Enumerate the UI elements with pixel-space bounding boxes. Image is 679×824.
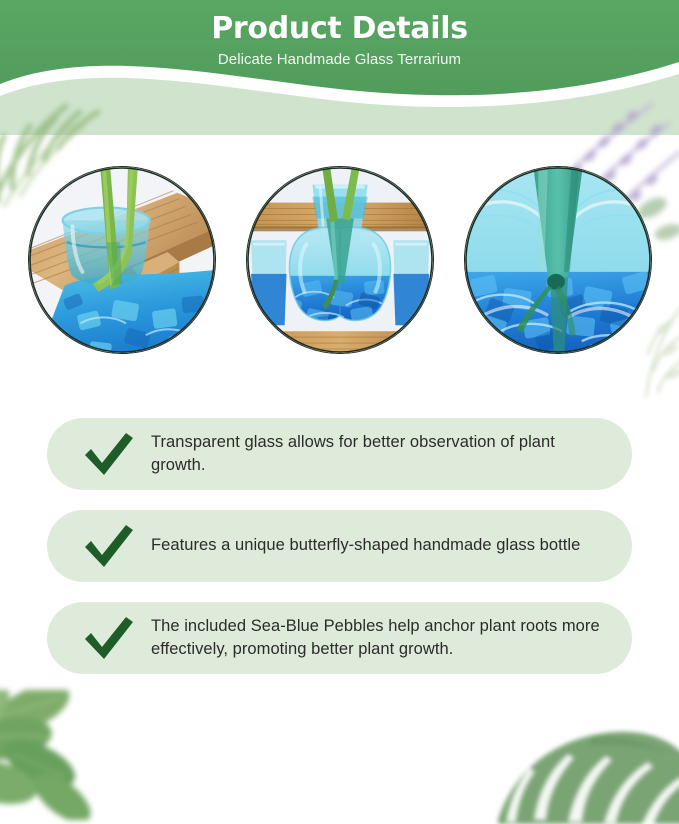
gallery-image-butterfly-glass-bottle-with-pebbles[interactable] [246, 166, 434, 354]
check-icon [81, 612, 137, 664]
gallery-image-glass-cup-on-wooden-board[interactable] [28, 166, 216, 354]
product-image-gallery [0, 166, 679, 358]
feature-item-text: Features a unique butterfly-shaped handm… [151, 534, 580, 557]
feature-list: Transparent glass allows for better obse… [0, 418, 679, 694]
feature-item-sea-blue-pebbles: The included Sea-Blue Pebbles help ancho… [47, 602, 632, 674]
gallery-image-closeup-butterfly-bottle-pebbles[interactable] [464, 166, 652, 354]
feature-item-text: Transparent glass allows for better obse… [151, 431, 606, 478]
feature-item-transparent-glass: Transparent glass allows for better obse… [47, 418, 632, 490]
feature-item-text: The included Sea-Blue Pebbles help ancho… [151, 615, 606, 662]
check-icon [81, 520, 137, 572]
page-header: Product Details Delicate Handmade Glass … [0, 0, 679, 135]
green-leaves-bottom-left-icon [0, 690, 154, 820]
page-title: Product Details [0, 0, 679, 46]
feature-item-butterfly-bottle: Features a unique butterfly-shaped handm… [47, 510, 632, 582]
check-icon [81, 428, 137, 480]
monstera-leaf-bottom-right-icon [494, 724, 679, 824]
page-subtitle: Delicate Handmade Glass Terrarium [0, 46, 679, 68]
header-text-group: Product Details Delicate Handmade Glass … [0, 0, 679, 68]
